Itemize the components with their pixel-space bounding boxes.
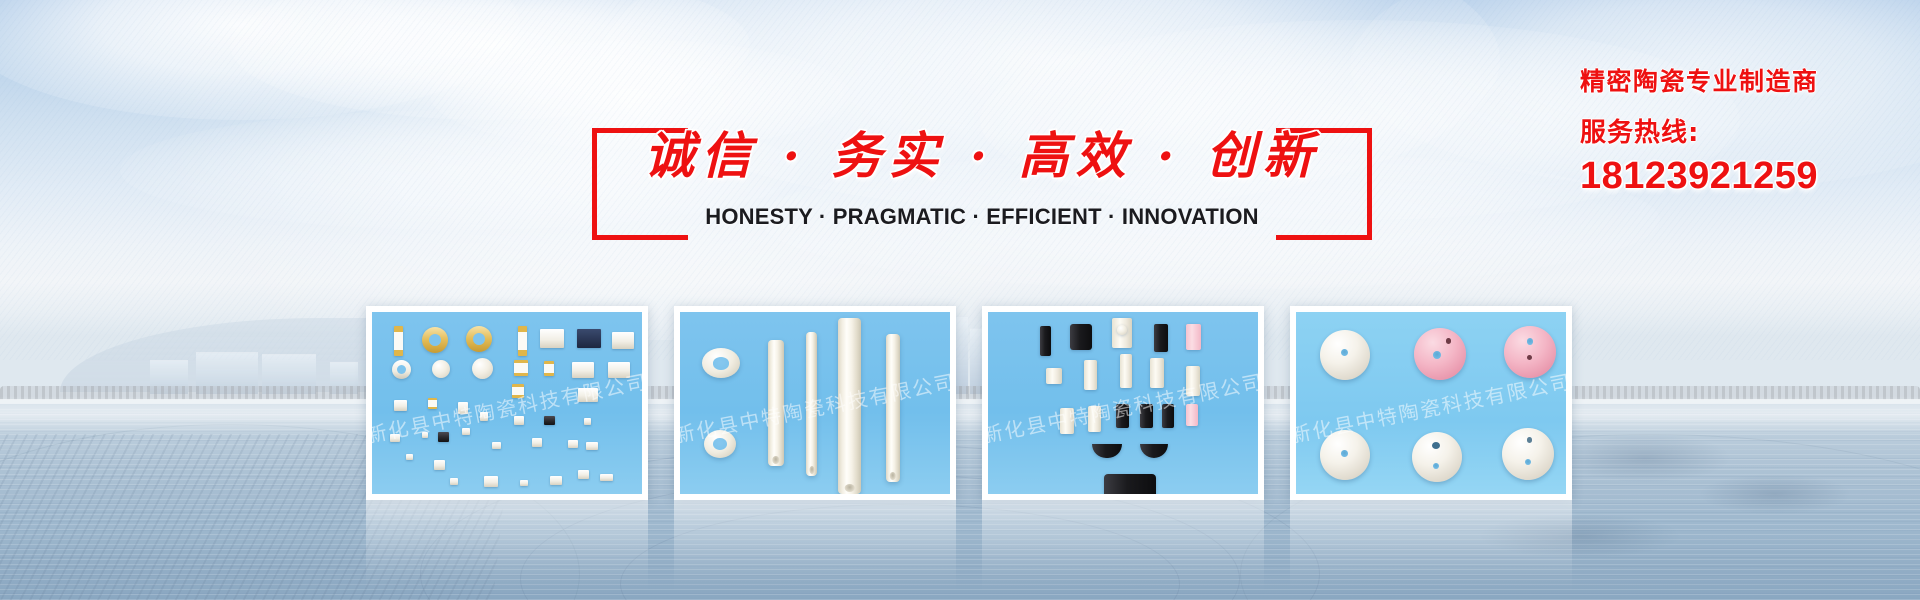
ceramic-part bbox=[586, 442, 598, 450]
eyelet-hole bbox=[1432, 442, 1440, 449]
product-panels: 新化县中特陶瓷科技有限公司 新化县中特陶瓷科技有限公司 bbox=[366, 306, 1590, 500]
ceramic-part bbox=[704, 430, 736, 458]
ceramic-part bbox=[466, 326, 492, 352]
ceramic-part bbox=[462, 428, 470, 435]
ceramic-part bbox=[584, 418, 591, 425]
ceramic-part bbox=[806, 332, 817, 476]
ceramic-part bbox=[600, 474, 613, 481]
ceramic-part bbox=[1320, 330, 1370, 380]
ceramic-part bbox=[1088, 406, 1101, 432]
ceramic-part bbox=[1414, 328, 1466, 380]
ceramic-part bbox=[1060, 408, 1074, 434]
ceramic-part bbox=[578, 470, 589, 479]
ceramic-part bbox=[1154, 324, 1168, 352]
ceramic-part bbox=[434, 460, 445, 470]
ceramic-part bbox=[520, 480, 528, 486]
eyelet-hole bbox=[1433, 351, 1441, 359]
ceramic-part bbox=[458, 402, 468, 414]
company-tagline: 精密陶瓷专业制造商 bbox=[1580, 62, 1880, 98]
ceramic-part bbox=[394, 400, 407, 411]
slogan-english: HONESTY · PRAGMATIC · EFFICIENT · INNOVA… bbox=[592, 204, 1372, 230]
hotline-label: 服务热线: bbox=[1580, 112, 1880, 149]
eyelet-hole bbox=[1341, 349, 1348, 356]
ceramic-part bbox=[1084, 360, 1097, 390]
ceramic-part bbox=[1117, 325, 1127, 335]
ceramic-part bbox=[702, 348, 740, 378]
ceramic-part bbox=[1412, 432, 1462, 482]
water-shadow bbox=[1700, 474, 1850, 514]
ceramic-part bbox=[1320, 430, 1370, 480]
ceramic-part bbox=[838, 318, 861, 494]
promo-banner: 诚信 · 务实 · 高效 · 创新 HONESTY · PRAGMATIC · … bbox=[0, 0, 1920, 600]
product-photo: 新化县中特陶瓷科技有限公司 bbox=[988, 312, 1258, 494]
hotline-number[interactable]: 18123921259 bbox=[1580, 155, 1880, 198]
ceramic-part bbox=[1092, 444, 1122, 458]
ceramic-part bbox=[1140, 444, 1168, 458]
slogan-chinese: 诚信 · 务实 · 高效 · 创新 bbox=[592, 116, 1372, 188]
ceramic-part bbox=[608, 362, 630, 378]
eyelet-hole bbox=[1446, 338, 1451, 343]
ceramic-part bbox=[428, 398, 437, 409]
cloud bbox=[0, 0, 520, 120]
ceramic-part bbox=[612, 332, 634, 349]
eyelet-hole bbox=[1527, 355, 1532, 360]
photo-watermark: 新化县中特陶瓷科技有限公司 bbox=[372, 365, 642, 448]
ceramic-part bbox=[1070, 324, 1092, 350]
ceramic-part bbox=[578, 388, 598, 402]
ceramic-part bbox=[492, 442, 501, 449]
contact-block: 精密陶瓷专业制造商 服务热线: 18123921259 bbox=[1580, 62, 1880, 198]
ceramic-part bbox=[390, 434, 400, 442]
ceramic-part bbox=[886, 334, 900, 482]
ceramic-part bbox=[568, 440, 578, 448]
eyelet-hole bbox=[1341, 450, 1348, 457]
ceramic-part bbox=[484, 476, 498, 487]
eyelet-hole bbox=[1525, 459, 1531, 465]
ceramic-part bbox=[1140, 404, 1153, 428]
cloud bbox=[230, 0, 750, 120]
ceramic-part bbox=[544, 361, 554, 376]
ceramic-part bbox=[577, 329, 601, 348]
eyelet-hole bbox=[1433, 463, 1439, 469]
ceramic-part bbox=[544, 416, 555, 425]
ceramic-part bbox=[540, 329, 564, 348]
product-photo: 新化县中特陶瓷科技有限公司 bbox=[680, 312, 950, 494]
ceramic-part bbox=[394, 326, 403, 356]
ceramic-part bbox=[432, 360, 450, 378]
ceramic-part bbox=[512, 384, 524, 398]
ceramic-part bbox=[518, 326, 527, 356]
ceramic-part bbox=[1120, 354, 1132, 388]
ceramic-part bbox=[1502, 428, 1554, 480]
product-photo: 新化县中特陶瓷科技有限公司 bbox=[1296, 312, 1566, 494]
ceramic-part bbox=[1046, 368, 1062, 384]
ceramic-part bbox=[450, 478, 458, 485]
ceramic-part bbox=[1186, 324, 1201, 350]
ceramic-part bbox=[768, 340, 784, 466]
product-panel[interactable]: 新化县中特陶瓷科技有限公司 bbox=[982, 306, 1264, 500]
ceramic-part bbox=[1104, 474, 1156, 494]
ceramic-part bbox=[532, 438, 542, 447]
ceramic-part bbox=[1186, 404, 1198, 426]
ceramic-part bbox=[514, 360, 528, 376]
ceramic-part bbox=[438, 432, 449, 442]
ceramic-part bbox=[1116, 404, 1129, 428]
ceramic-part bbox=[480, 412, 488, 421]
product-panel[interactable]: 新化县中特陶瓷科技有限公司 bbox=[674, 306, 956, 500]
ceramic-part bbox=[1162, 404, 1174, 428]
ceramic-part bbox=[422, 432, 428, 438]
water-shadow bbox=[1480, 514, 1680, 558]
ceramic-part bbox=[422, 327, 448, 353]
ceramic-part bbox=[572, 362, 594, 378]
ceramic-part bbox=[1186, 366, 1200, 396]
ceramic-part bbox=[472, 358, 493, 379]
slogan-block: 诚信 · 务实 · 高效 · 创新 HONESTY · PRAGMATIC · … bbox=[592, 128, 1372, 240]
ceramic-part bbox=[1040, 326, 1051, 356]
ceramic-part bbox=[514, 416, 524, 425]
ceramic-part bbox=[406, 454, 413, 460]
ceramic-part bbox=[392, 360, 411, 379]
eyelet-hole bbox=[1527, 437, 1532, 442]
ceramic-part bbox=[1150, 358, 1164, 388]
ceramic-part bbox=[1504, 326, 1556, 378]
product-panel[interactable]: 新化县中特陶瓷科技有限公司 bbox=[366, 306, 648, 500]
ceramic-part bbox=[550, 476, 562, 485]
product-photo: 新化县中特陶瓷科技有限公司 bbox=[372, 312, 642, 494]
eyelet-hole bbox=[1527, 338, 1533, 344]
product-panel[interactable]: 新化县中特陶瓷科技有限公司 bbox=[1290, 306, 1572, 500]
